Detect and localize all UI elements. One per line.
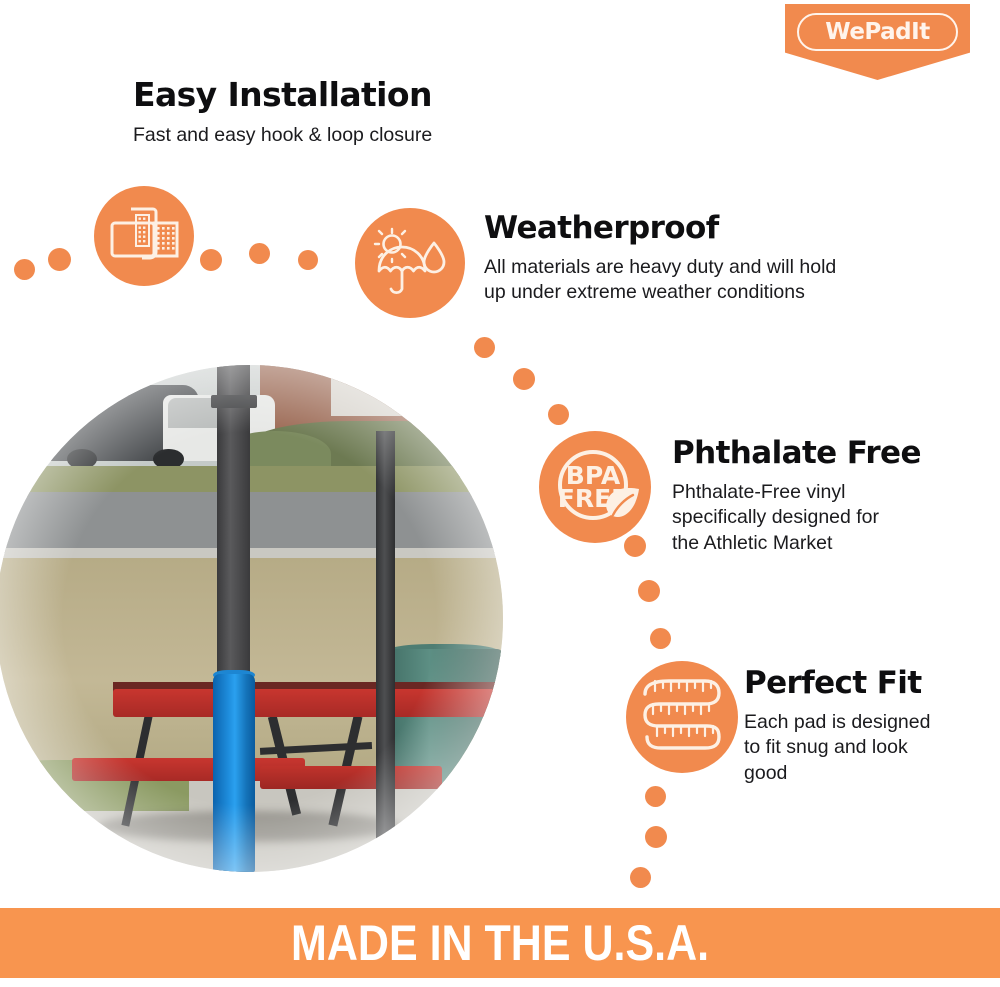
brand-logo: WePadIt	[785, 4, 970, 80]
hook-and-loop-icon	[109, 205, 179, 267]
feature-phthalate-free-text: Phthalate Free Phthalate-Free vinyl spec…	[672, 438, 921, 556]
feature-easy-installation-text: Easy Installation Fast and easy hook & l…	[133, 78, 432, 148]
made-in-usa-text: MADE IN THE U.S.A.	[291, 918, 709, 968]
feature-desc-easy-installation: Fast and easy hook & loop closure	[133, 123, 432, 148]
feature-desc-perfect-fit-line3: good	[744, 761, 930, 786]
feature-desc-weatherproof-line1: All materials are heavy duty and will ho…	[484, 255, 836, 280]
trail-dot	[548, 404, 569, 425]
photo-building-secondary	[331, 365, 432, 416]
trail-dot	[645, 826, 667, 848]
photo-post-secondary	[376, 431, 394, 847]
trail-dot	[249, 243, 270, 264]
trail-dot	[14, 259, 35, 280]
trail-dot	[48, 248, 71, 271]
feature-icon-phthalate-free: BPA FREE	[539, 431, 651, 543]
logo-wordmark: WePadIt	[825, 21, 929, 44]
feature-desc-phthalate-free-line3: the Athletic Market	[672, 531, 921, 556]
logo-outline-frame: WePadIt	[797, 13, 958, 51]
feature-weatherproof-text: Weatherproof All materials are heavy dut…	[484, 213, 836, 306]
measuring-tape-icon	[639, 676, 725, 758]
made-in-usa-banner: MADE IN THE U.S.A.	[0, 908, 1000, 978]
feature-title-phthalate-free: Phthalate Free	[672, 438, 921, 469]
trail-dot	[298, 250, 318, 270]
sun-umbrella-raindrop-icon	[371, 227, 449, 299]
photo-road	[0, 492, 503, 553]
feature-icon-weatherproof	[355, 208, 465, 318]
feature-desc-phthalate-free-line2: specifically designed for	[672, 505, 921, 530]
trail-dot	[474, 337, 495, 358]
photo-post-bracket	[211, 395, 257, 408]
logo-part-we: We	[825, 19, 864, 45]
feature-desc-perfect-fit-line1: Each pad is designed	[744, 710, 930, 735]
trail-dot	[200, 249, 222, 271]
photo-blue-post-pad	[213, 674, 255, 872]
feature-title-weatherproof: Weatherproof	[484, 213, 836, 244]
trail-dot	[638, 580, 660, 602]
feature-icon-perfect-fit	[626, 661, 738, 773]
logo-part-it: It	[911, 19, 930, 45]
trail-dot	[630, 867, 651, 888]
photo-table-top	[113, 689, 503, 717]
feature-title-perfect-fit: Perfect Fit	[744, 668, 930, 699]
infographic-page: WePadIt Easy Installation Fast and easy …	[0, 0, 1000, 987]
feature-perfect-fit-text: Perfect Fit Each pad is designed to fit …	[744, 668, 930, 786]
logo-part-pad: Pad	[864, 19, 911, 45]
feature-title-easy-installation: Easy Installation	[133, 78, 432, 111]
photo-bench-right	[260, 766, 443, 789]
feature-desc-weatherproof-line2: up under extreme weather conditions	[484, 280, 836, 305]
product-photo	[0, 365, 503, 872]
feature-icon-easy-installation	[94, 186, 194, 286]
trail-dot	[650, 628, 671, 649]
feature-desc-phthalate-free-line1: Phthalate-Free vinyl	[672, 480, 921, 505]
bpa-free-leaf-icon: BPA FREE	[547, 439, 643, 535]
trail-dot	[624, 535, 646, 557]
feature-desc-perfect-fit-line2: to fit snug and look	[744, 735, 930, 760]
trail-dot	[513, 368, 535, 390]
trail-dot	[645, 786, 666, 807]
